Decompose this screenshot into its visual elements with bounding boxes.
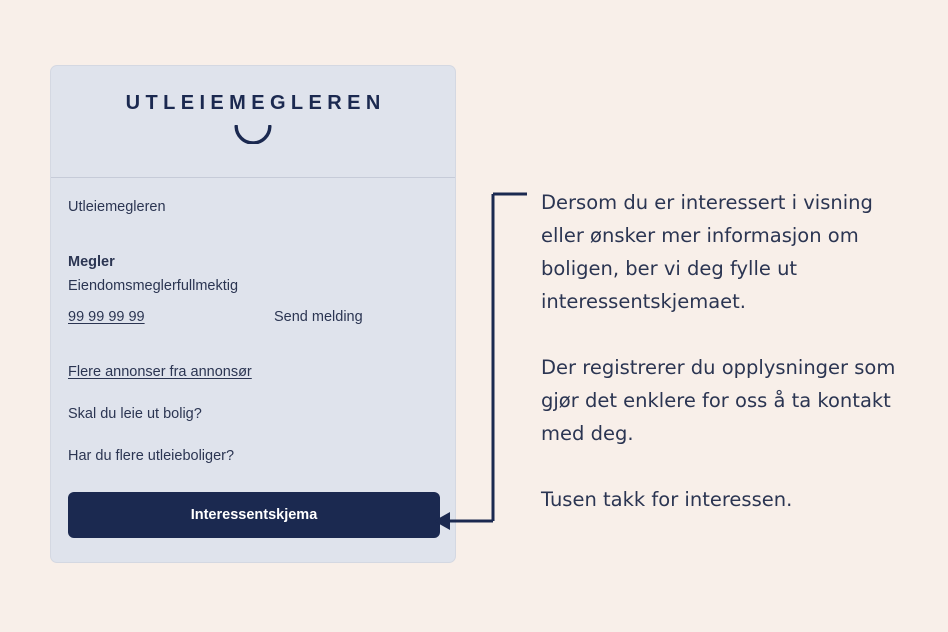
company-name: Utleiemegleren (68, 198, 438, 217)
agent-role-title: Megler (68, 253, 438, 272)
smile-arc-icon (234, 125, 272, 144)
rent-out-property-link[interactable]: Skal du leie ut bolig? (68, 405, 438, 424)
annotation-paragraph-3: Tusen takk for interessen. (541, 483, 921, 516)
annotation-paragraph-2: Der registrerer du opplysninger som gjør… (541, 351, 921, 450)
annotation-paragraph-1: Dersom du er interessert i visning eller… (541, 186, 921, 318)
annotation-text-block: Dersom du er interessert i visning eller… (541, 186, 921, 516)
card-body: Utleiemegleren Megler Eiendomsmeglerfull… (51, 178, 455, 538)
card-header: UTLEIEMEGLEREN (51, 66, 455, 178)
send-message-link[interactable]: Send melding (274, 308, 363, 327)
more-ads-from-advertiser-link[interactable]: Flere annonser fra annonsør (68, 363, 252, 382)
agent-contact-row: 99 99 99 99 Send melding (68, 308, 438, 327)
phone-number-link[interactable]: 99 99 99 99 (68, 308, 274, 327)
agent-role-subtitle: Eiendomsmeglerfullmektig (68, 277, 438, 296)
brand-wordmark: UTLEIEMEGLEREN (120, 93, 385, 113)
multiple-rentals-link[interactable]: Har du flere utleieboliger? (68, 447, 438, 466)
interest-form-button[interactable]: Interessentskjema (68, 492, 440, 538)
agent-contact-card: UTLEIEMEGLEREN Utleiemegleren Megler Eie… (50, 65, 456, 563)
